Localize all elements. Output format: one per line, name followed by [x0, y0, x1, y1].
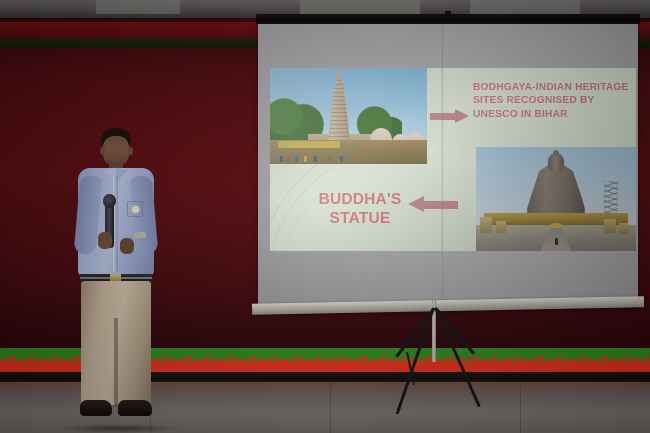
tripod-stand	[256, 300, 640, 420]
microphone-head-icon	[103, 194, 116, 208]
presenter-shadow	[58, 424, 178, 433]
presenter	[64, 128, 168, 430]
screen-surface: BODHGAYA-INDIAN HERITAGE SITES RECOGNISE…	[258, 24, 638, 304]
presenter-trouser-seam	[114, 318, 118, 406]
auditorium-scene: BODHGAYA-INDIAN HERITAGE SITES RECOGNISE…	[0, 0, 650, 433]
presenter-shoe-right	[118, 400, 152, 416]
projector-screen: BODHGAYA-INDIAN HERITAGE SITES RECOGNISE…	[256, 14, 640, 310]
presenter-hand-right	[120, 238, 134, 254]
presenter-wristwatch	[134, 232, 146, 238]
presenter-ear-right	[128, 147, 133, 155]
presenter-shoe-left	[80, 400, 112, 416]
presenter-badge	[131, 205, 140, 214]
presenter-ear-left	[100, 147, 105, 155]
presenter-hand-left	[98, 232, 112, 249]
